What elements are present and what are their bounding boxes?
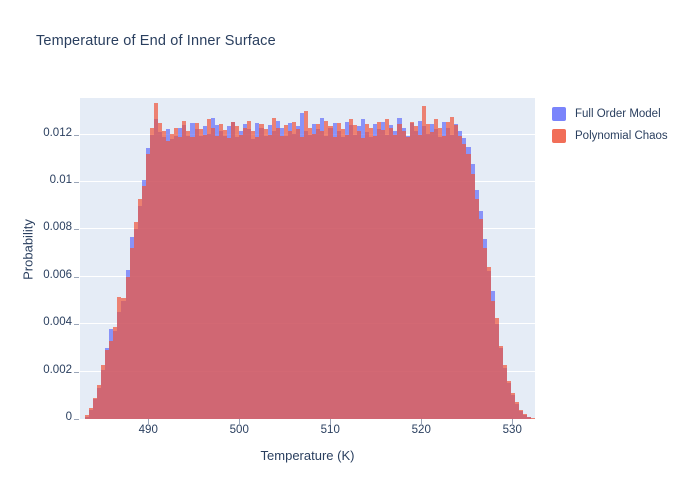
y-tick-mark	[74, 277, 79, 278]
y-tick-label: 0.01	[0, 174, 72, 186]
y-tick-mark	[74, 372, 79, 373]
y-tick-label: 0.006	[0, 269, 72, 281]
plotly-figure: Temperature of End of Inner Surface 00.0…	[0, 0, 700, 500]
legend-swatch-icon	[552, 107, 566, 121]
legend-label: Full Order Model	[575, 108, 661, 120]
x-tick-mark	[148, 419, 149, 424]
y-tick-mark	[74, 135, 79, 136]
x-axis-title: Temperature (K)	[0, 448, 615, 463]
y-tick-mark	[74, 324, 79, 325]
x-tick-mark	[512, 419, 513, 424]
histogram-bar	[531, 418, 535, 419]
y-tick-mark	[74, 419, 79, 420]
x-tick-label: 510	[300, 424, 360, 436]
legend-label: Polynomial Chaos	[575, 130, 668, 142]
y-tick-label: 0.008	[0, 221, 72, 233]
page-title: Temperature of End of Inner Surface	[36, 33, 276, 49]
x-tick-mark	[330, 419, 331, 424]
plot-area[interactable]	[80, 98, 535, 419]
x-tick-label: 490	[118, 424, 178, 436]
y-tick-label: 0	[0, 411, 72, 423]
y-tick-mark	[74, 229, 79, 230]
legend[interactable]: Full Order ModelPolynomial Chaos	[552, 104, 700, 148]
y-tick-label: 0.002	[0, 364, 72, 376]
x-tick-label: 530	[482, 424, 542, 436]
legend-item[interactable]: Polynomial Chaos	[552, 126, 700, 146]
y-axis-title: Probability	[21, 200, 36, 300]
y-tick-label: 0.004	[0, 316, 72, 328]
series-polynomial-chaos	[80, 98, 535, 419]
x-tick-label: 520	[391, 424, 451, 436]
legend-swatch-icon	[552, 129, 566, 143]
x-tick-mark	[421, 419, 422, 424]
x-tick-label: 500	[209, 424, 269, 436]
y-tick-label: 0.012	[0, 127, 72, 139]
histogram-bars	[80, 98, 535, 419]
legend-item[interactable]: Full Order Model	[552, 104, 700, 124]
x-tick-mark	[239, 419, 240, 424]
y-tick-mark	[74, 182, 79, 183]
